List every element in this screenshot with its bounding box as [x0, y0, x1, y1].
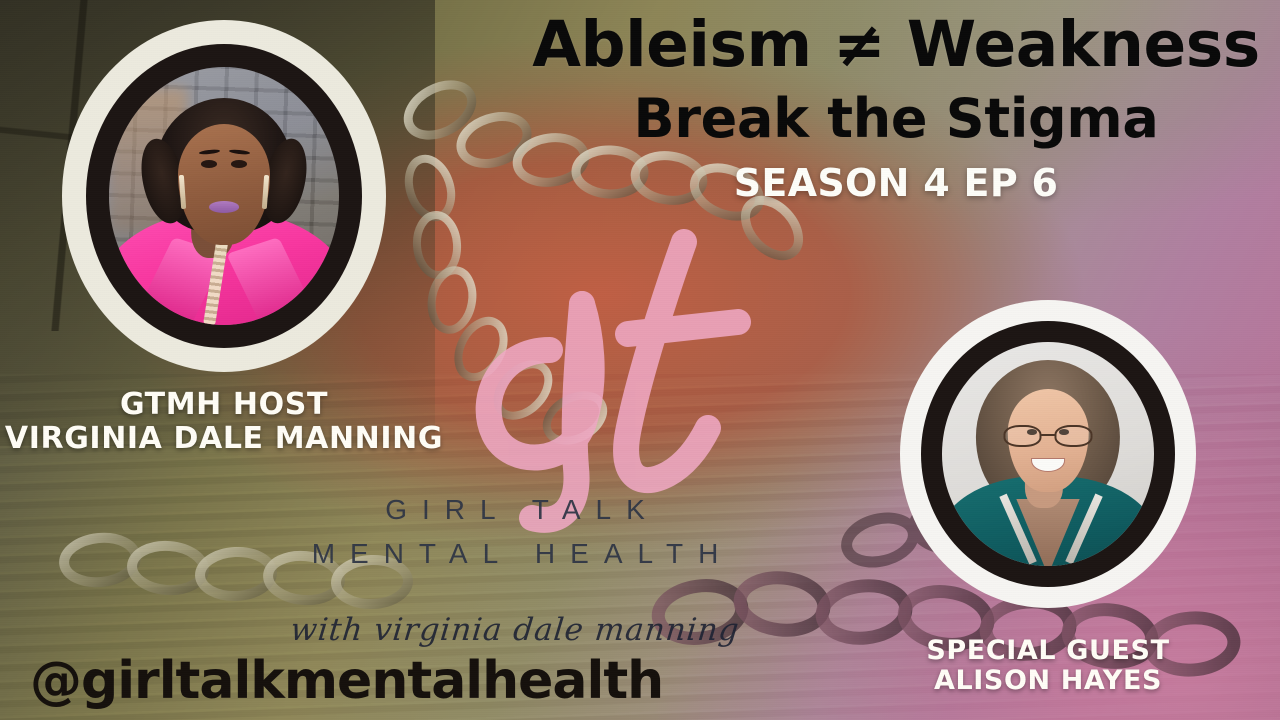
guest-name-label: ALISON HAYES — [880, 666, 1216, 696]
episode-title-block: Ableism ≠ Weakness Break the Stigma SEAS… — [520, 8, 1272, 208]
guest-role-label: SPECIAL GUEST — [880, 636, 1216, 666]
eyeglasses-icon — [1003, 425, 1092, 447]
thumbnail-canvas: GIRL TALK MENTAL HEALTH with virginia da… — [0, 0, 1280, 720]
host-name-label: VIRGINIA DALE MANNING — [0, 422, 448, 456]
episode-season-label: SEASON 4 EP 6 — [520, 158, 1272, 208]
guest-caption: SPECIAL GUEST ALISON HAYES — [880, 636, 1216, 696]
guest-avatar-photo — [942, 342, 1154, 566]
host-role-label: GTMH HOST — [0, 388, 448, 422]
episode-title-secondary: Break the Stigma — [520, 86, 1272, 152]
episode-title-primary: Ableism ≠ Weakness — [520, 8, 1272, 82]
host-avatar-photo — [109, 67, 339, 325]
host-caption: GTMH HOST VIRGINIA DALE MANNING — [0, 388, 448, 455]
host-avatar — [62, 20, 386, 372]
social-handle: @girltalkmentalhealth — [30, 651, 663, 711]
guest-avatar — [900, 300, 1196, 608]
